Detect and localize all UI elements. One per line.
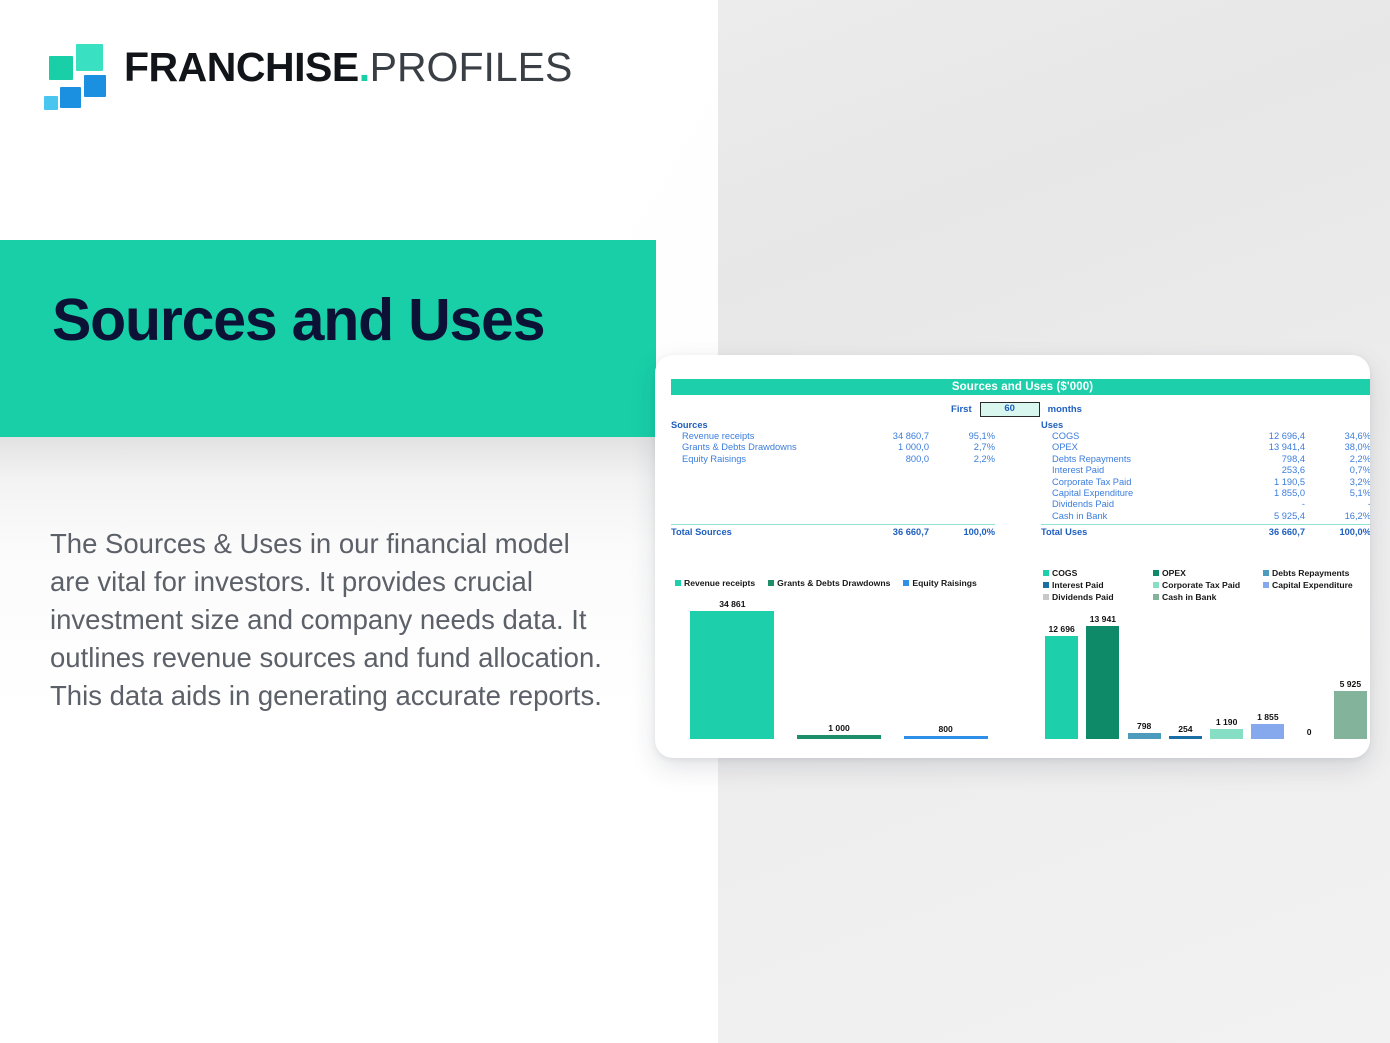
legend-swatch-icon: [1263, 582, 1269, 588]
bar-value-label: 5 925: [1340, 679, 1362, 689]
page-title: Sources and Uses: [52, 290, 544, 352]
uses-row-label: Dividends Paid: [1041, 499, 1221, 510]
table-row: Revenue receipts34 860,795,1%: [671, 431, 995, 442]
bar-slot: 5 925: [1330, 591, 1370, 739]
legend-item: OPEX: [1153, 567, 1263, 579]
bar-slot: 34 861: [679, 589, 786, 739]
legend-item: COGS: [1043, 567, 1153, 579]
report-title-bar: Sources and Uses ($'000): [671, 379, 1370, 395]
table-row: Equity Raisings800,02,2%: [671, 454, 995, 465]
sources-heading: Sources: [671, 420, 995, 430]
legend-item: Equity Raisings: [903, 577, 976, 589]
bar-slot: 1 000: [786, 589, 893, 739]
uses-row-label: COGS: [1041, 431, 1221, 442]
bar-value-label: 798: [1137, 721, 1151, 731]
sources-total-pct: 100,0%: [929, 526, 995, 539]
brand-logo: FRANCHISE.PROFILES: [44, 42, 572, 96]
uses-row-pct: 3,2%: [1305, 477, 1370, 488]
brand-name-dot: .: [359, 44, 370, 90]
bar-value-label: 1 000: [828, 723, 850, 733]
legend-item: Corporate Tax Paid: [1153, 579, 1263, 591]
uses-total-value: 36 660,7: [1221, 526, 1305, 539]
uses-row-label: Interest Paid: [1041, 465, 1221, 476]
uses-row-pct: 5,1%: [1305, 488, 1370, 499]
bar: [1334, 691, 1367, 739]
uses-row-value: -: [1221, 499, 1305, 510]
legend-swatch-icon: [1043, 570, 1049, 576]
period-prefix-label: First: [951, 404, 972, 415]
table-row: Corporate Tax Paid1 190,53,2%: [1041, 477, 1370, 488]
bar: [690, 611, 774, 739]
bar-slot: 0: [1289, 591, 1330, 739]
uses-row-label: Corporate Tax Paid: [1041, 477, 1221, 488]
sources-row-label: Revenue receipts: [671, 431, 845, 442]
sources-row-pct: 2,7%: [929, 442, 995, 453]
legend-item: Revenue receipts: [675, 577, 755, 589]
table-row: Grants & Debts Drawdowns1 000,02,7%: [671, 442, 995, 453]
uses-bar-chart: 12 69613 9417982541 1901 85505 925: [1041, 591, 1370, 739]
table-row: COGS12 696,434,6%: [1041, 431, 1370, 442]
legend-swatch-icon: [675, 580, 681, 586]
bar-value-label: 800: [939, 724, 953, 734]
legend-swatch-icon: [768, 580, 774, 586]
legend-label: Capital Expenditure: [1272, 579, 1353, 591]
legend-label: COGS: [1052, 567, 1077, 579]
uses-row-value: 12 696,4: [1221, 431, 1305, 442]
uses-row-pct: 38,0%: [1305, 442, 1370, 453]
uses-row-value: 5 925,4: [1221, 511, 1305, 522]
uses-total-pct: 100,0%: [1305, 526, 1370, 539]
legend-label: Interest Paid: [1052, 579, 1104, 591]
logo-square-5: [44, 96, 58, 110]
report-screenshot-card: Sources and Uses ($'000) First 60 months…: [655, 355, 1370, 758]
logo-square-1: [49, 56, 73, 80]
uses-row-label: Capital Expenditure: [1041, 488, 1221, 499]
legend-label: OPEX: [1162, 567, 1186, 579]
bar: [1086, 626, 1119, 739]
brand-wordmark: FRANCHISE.PROFILES: [124, 47, 572, 92]
body-paragraph: The Sources & Uses in our financial mode…: [50, 525, 616, 715]
sources-rows: Revenue receipts34 860,795,1%Grants & De…: [671, 431, 995, 465]
sources-row-value: 800,0: [845, 454, 929, 465]
sources-bar-chart: 34 8611 000800: [679, 589, 999, 739]
sources-total-label: Total Sources: [671, 526, 845, 539]
bar-slot: 800: [892, 589, 999, 739]
bar-value-label: 0: [1307, 727, 1312, 737]
sources-row-pct: 2,2%: [929, 454, 995, 465]
table-row: OPEX13 941,438,0%: [1041, 442, 1370, 453]
uses-row-label: OPEX: [1041, 442, 1221, 453]
uses-row-pct: 2,2%: [1305, 454, 1370, 465]
table-row: Debts Repayments798,42,2%: [1041, 454, 1370, 465]
bar: [797, 735, 881, 739]
legend-swatch-icon: [1263, 570, 1269, 576]
bar-slot: 13 941: [1082, 591, 1123, 739]
bar: [904, 736, 988, 739]
bar: [1045, 636, 1078, 739]
legend-label: Grants & Debts Drawdowns: [777, 577, 890, 589]
title-banner: Sources and Uses: [0, 240, 656, 437]
uses-row-pct: -: [1305, 499, 1370, 510]
sources-row-pct: 95,1%: [929, 431, 995, 442]
legend-label: Revenue receipts: [684, 577, 755, 589]
sources-row-label: Equity Raisings: [671, 454, 845, 465]
bar-value-label: 12 696: [1048, 624, 1074, 634]
logo-square-2: [76, 44, 103, 71]
uses-total-label: Total Uses: [1041, 526, 1221, 539]
uses-heading: Uses: [1041, 420, 1370, 430]
bar-value-label: 1 190: [1216, 717, 1238, 727]
brand-name-thin: PROFILES: [370, 44, 573, 90]
legend-item: Debts Repayments: [1263, 567, 1370, 579]
bar: [1251, 724, 1284, 739]
spreadsheet: Sources and Uses ($'000) First 60 months…: [665, 379, 1360, 749]
table-row: Dividends Paid--: [1041, 499, 1370, 510]
sources-row-value: 34 860,7: [845, 431, 929, 442]
logo-mark-icon: [44, 42, 106, 96]
period-months-input[interactable]: 60: [980, 402, 1040, 417]
legend-swatch-icon: [1153, 582, 1159, 588]
bar-slot: 12 696: [1041, 591, 1082, 739]
sources-row-label: Grants & Debts Drawdowns: [671, 442, 845, 453]
uses-rows: COGS12 696,434,6%OPEX13 941,438,0%Debts …: [1041, 431, 1370, 522]
sources-table: Sources Revenue receipts34 860,795,1%Gra…: [671, 420, 995, 539]
uses-row-pct: 34,6%: [1305, 431, 1370, 442]
logo-square-3: [84, 75, 106, 97]
uses-row-label: Debts Repayments: [1041, 454, 1221, 465]
bar-slot: 798: [1124, 591, 1165, 739]
uses-row-value: 1 190,5: [1221, 477, 1305, 488]
uses-row-pct: 0,7%: [1305, 465, 1370, 476]
legend-swatch-icon: [1153, 570, 1159, 576]
uses-row-value: 1 855,0: [1221, 488, 1305, 499]
bar-value-label: 1 855: [1257, 712, 1279, 722]
bar: [1210, 729, 1243, 739]
uses-row-pct: 16,2%: [1305, 511, 1370, 522]
legend-item: Interest Paid: [1043, 579, 1153, 591]
legend-item: Grants & Debts Drawdowns: [768, 577, 890, 589]
sources-total-value: 36 660,7: [845, 526, 929, 539]
bar-value-label: 13 941: [1090, 614, 1116, 624]
sources-row-value: 1 000,0: [845, 442, 929, 453]
legend-item: Capital Expenditure: [1263, 579, 1370, 591]
bar-value-label: 254: [1178, 724, 1192, 734]
uses-total-row: Total Uses 36 660,7 100,0%: [1041, 524, 1370, 539]
sources-chart-legend: Revenue receiptsGrants & Debts Drawdowns…: [675, 577, 1005, 589]
legend-label: Corporate Tax Paid: [1162, 579, 1240, 591]
period-selector-row: First 60 months: [665, 401, 1368, 417]
bar: [1128, 733, 1161, 739]
bar: [1169, 736, 1202, 739]
legend-label: Debts Repayments: [1272, 567, 1349, 579]
table-row: Capital Expenditure1 855,05,1%: [1041, 488, 1370, 499]
legend-swatch-icon: [903, 580, 909, 586]
uses-row-value: 798,4: [1221, 454, 1305, 465]
bar-slot: 1 190: [1206, 591, 1247, 739]
sources-total-row: Total Sources 36 660,7 100,0%: [671, 524, 995, 539]
bar-slot: 1 855: [1247, 591, 1288, 739]
uses-row-label: Cash in Bank: [1041, 511, 1221, 522]
legend-swatch-icon: [1043, 582, 1049, 588]
uses-row-value: 13 941,4: [1221, 442, 1305, 453]
bar-slot: 254: [1165, 591, 1206, 739]
bar-value-label: 34 861: [719, 599, 745, 609]
legend-label: Equity Raisings: [912, 577, 976, 589]
uses-table: Uses COGS12 696,434,6%OPEX13 941,438,0%D…: [1041, 420, 1370, 539]
uses-row-value: 253,6: [1221, 465, 1305, 476]
brand-name-bold: FRANCHISE: [124, 44, 359, 90]
table-row: Cash in Bank5 925,416,2%: [1041, 511, 1370, 522]
table-row: Interest Paid253,60,7%: [1041, 465, 1370, 476]
logo-square-4: [60, 87, 81, 108]
period-suffix-label: months: [1048, 404, 1082, 415]
